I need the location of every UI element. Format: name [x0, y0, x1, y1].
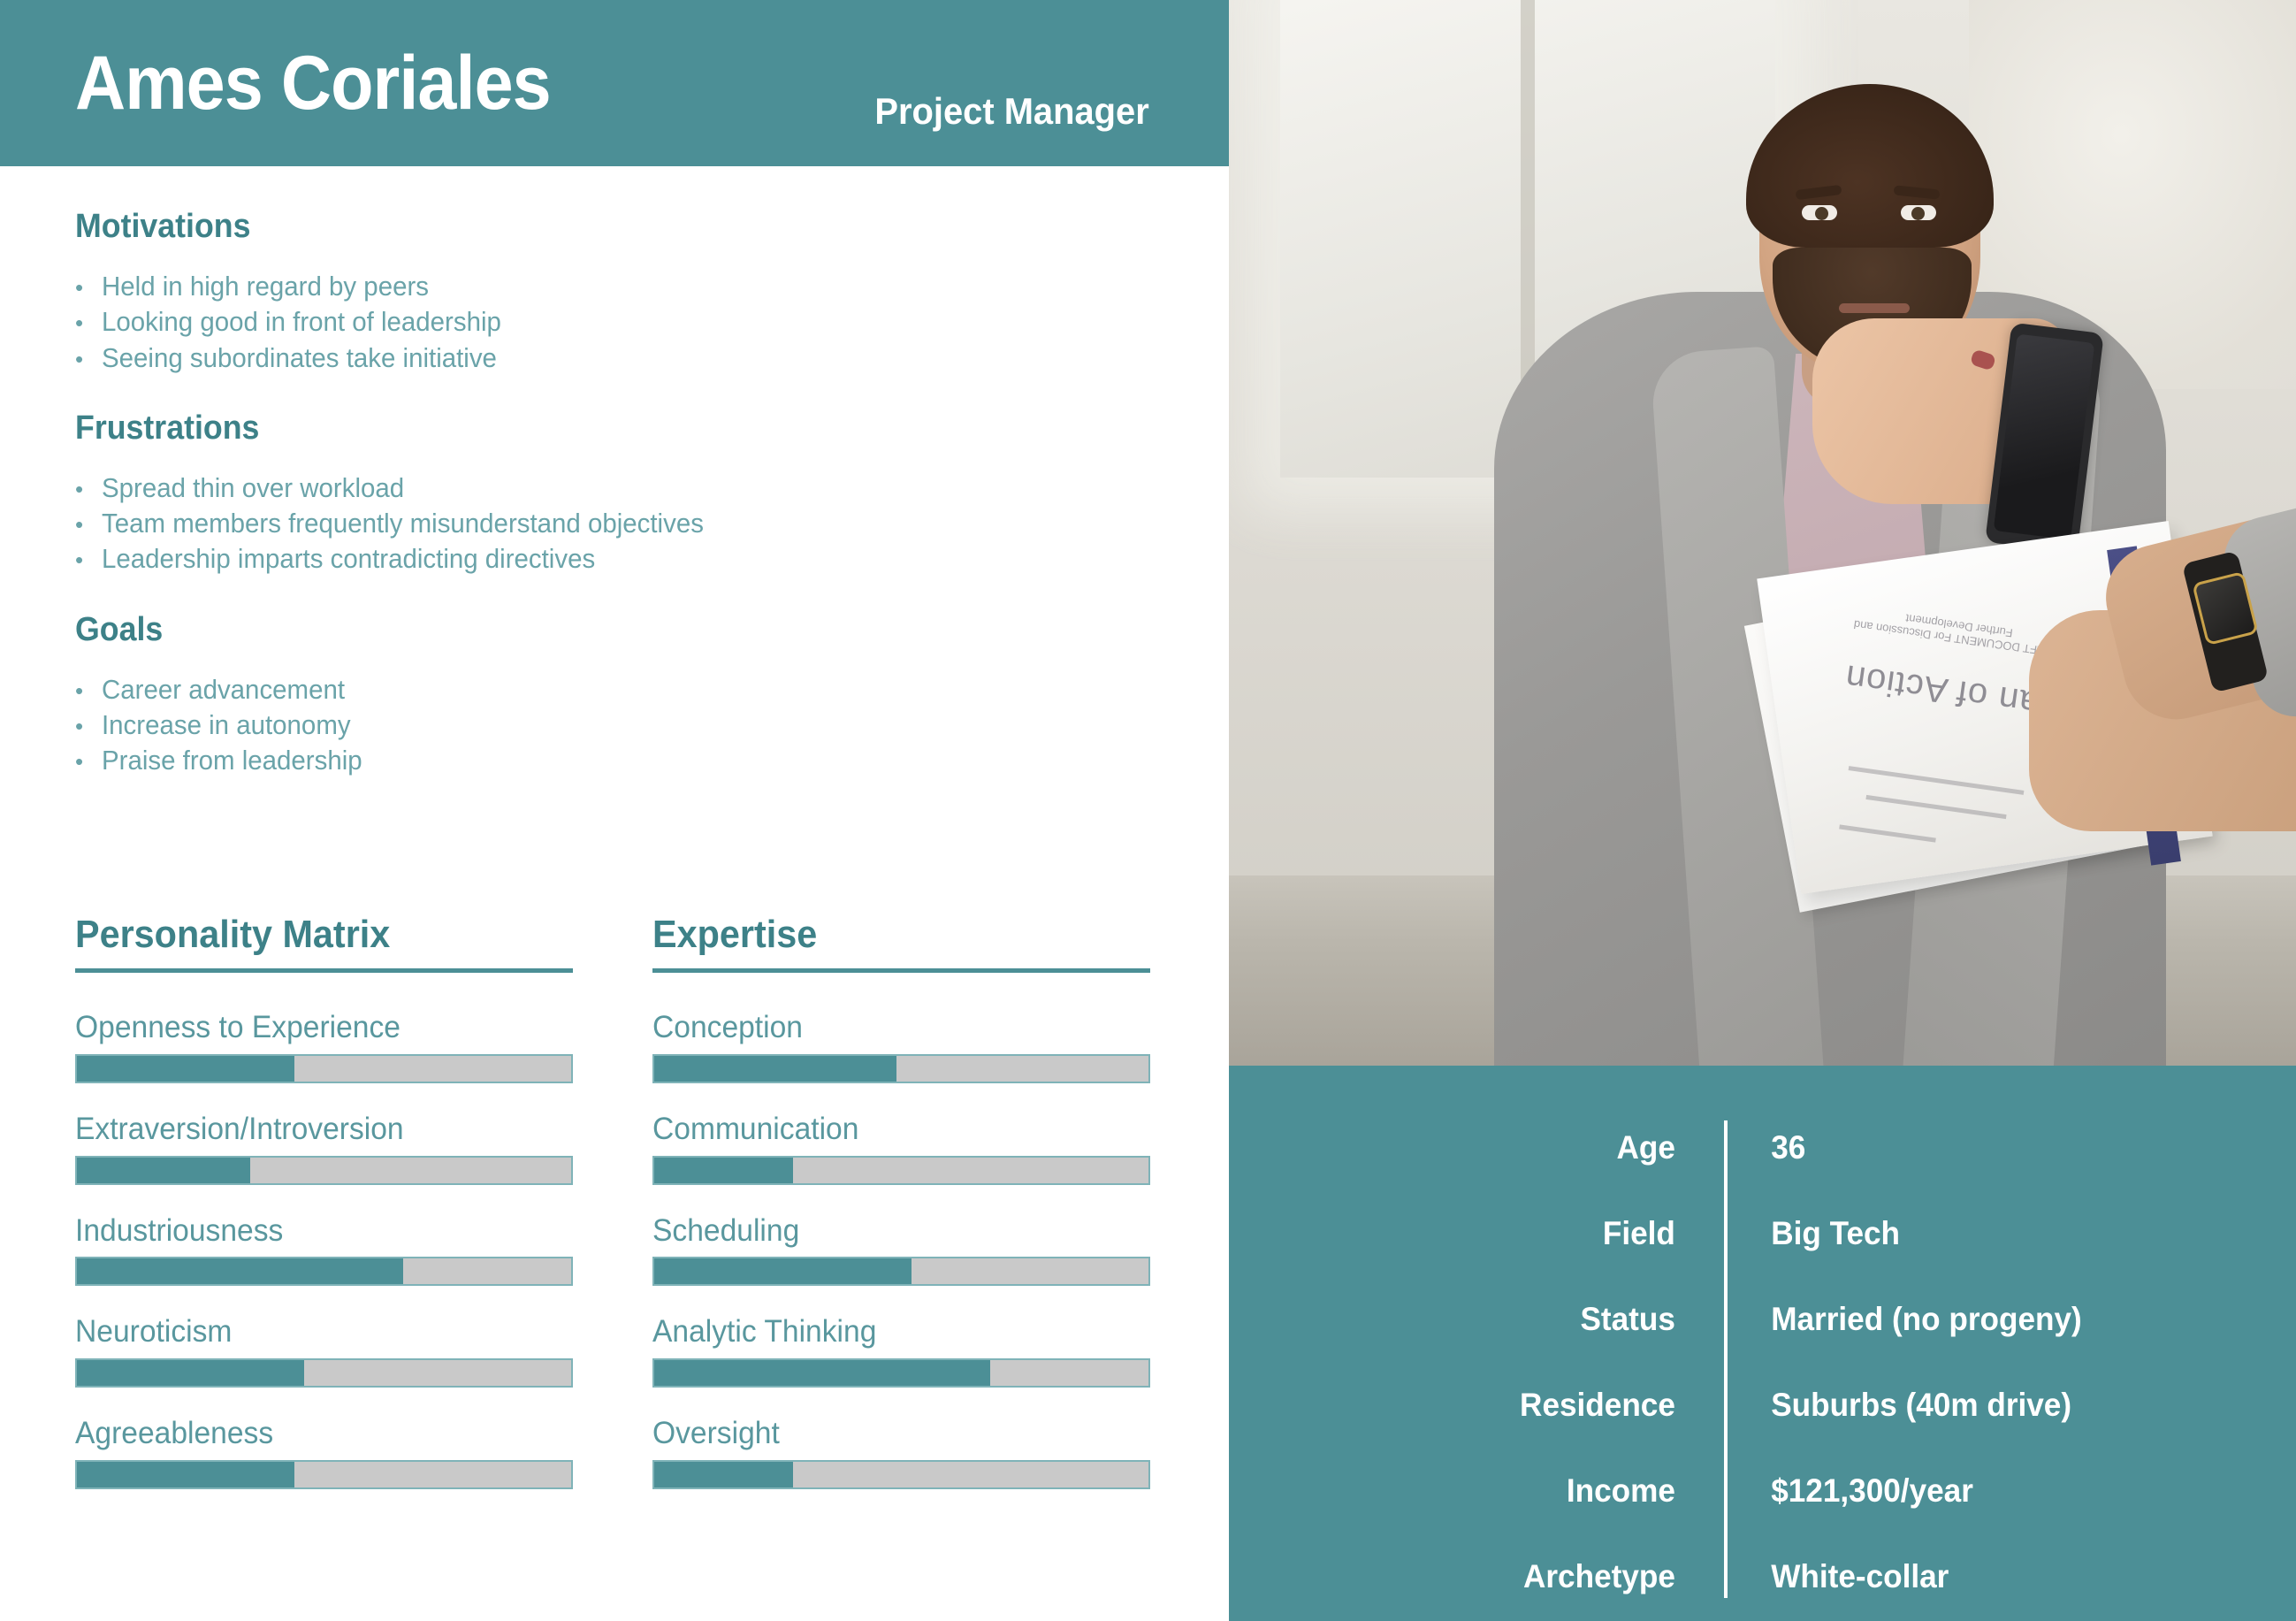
meter-row: Neuroticism: [75, 1316, 573, 1388]
meter-label: Industriousness: [75, 1215, 553, 1248]
meter-fill: [654, 1360, 990, 1386]
meter-row: Communication: [652, 1113, 1150, 1185]
expertise-chart: Expertise Conception Communication: [652, 915, 1150, 1519]
list-item-label: Increase in autonomy: [102, 707, 351, 743]
list-item: • Spread thin over workload: [75, 470, 1048, 506]
meter-label: Conception: [652, 1012, 1130, 1044]
meter-fill: [654, 1462, 793, 1487]
meter-label: Agreeableness: [75, 1418, 553, 1450]
meter-track: [75, 1054, 573, 1083]
meter-fill: [654, 1258, 912, 1284]
right-column: DRAFT DOCUMENT For Discussion and Furthe…: [1229, 0, 2296, 1621]
section-title: Goals: [75, 611, 989, 649]
list-item: • Career advancement: [75, 672, 1048, 707]
table-row-value: 36: [1724, 1129, 2268, 1166]
meter-fill: [77, 1258, 403, 1284]
table-row-label: Income: [1254, 1472, 1724, 1510]
section-frustrations: Frustrations • Spread thin over workload…: [75, 409, 1048, 577]
list-item-label: Held in high regard by peers: [102, 269, 429, 304]
meter-label: Oversight: [652, 1418, 1130, 1450]
table-row-value: $121,300/year: [1724, 1472, 2268, 1510]
list-item: • Seeing subordinates take initiative: [75, 340, 1048, 376]
header-band: Ames Coriales Project Manager: [0, 0, 1229, 166]
table-row: Age 36: [1229, 1105, 2296, 1190]
bullet-icon: •: [75, 747, 102, 777]
meter-row: Extraversion/Introversion: [75, 1113, 573, 1185]
bullet-icon: •: [75, 309, 102, 339]
list-item: • Held in high regard by peers: [75, 269, 1048, 304]
list-item: • Looking good in front of leadership: [75, 304, 1048, 340]
meter-label: Scheduling: [652, 1215, 1130, 1248]
list-item: • Team members frequently misunderstand …: [75, 506, 1048, 541]
meter-list: Conception Communication Scheduling: [652, 1012, 1150, 1489]
photo-pupil-left: [1815, 207, 1828, 220]
table-row-label: Residence: [1254, 1387, 1724, 1424]
meters-wrapper: Personality Matrix Openness to Experienc…: [75, 915, 1163, 1519]
table-row-label: Status: [1254, 1301, 1724, 1338]
left-column: Ames Coriales Project Manager Motivation…: [0, 0, 1229, 1621]
meter-fill: [654, 1158, 793, 1183]
bullet-icon: •: [75, 677, 102, 707]
table-row-value: Suburbs (40m drive): [1724, 1387, 2268, 1424]
table-row-label: Archetype: [1254, 1558, 1724, 1595]
persona-card: Ames Coriales Project Manager Motivation…: [0, 0, 2296, 1621]
meter-track: [75, 1358, 573, 1388]
page-title: Ames Coriales: [75, 45, 551, 121]
meter-track: [652, 1358, 1150, 1388]
bullet-icon: •: [75, 345, 102, 375]
persona-photo: DRAFT DOCUMENT For Discussion and Furthe…: [1229, 0, 2296, 1066]
title-divider: [652, 968, 1150, 973]
meter-row: Openness to Experience: [75, 1012, 573, 1083]
bullet-icon: •: [75, 712, 102, 742]
meter-list: Openness to Experience Extraversion/Intr…: [75, 1012, 573, 1489]
table-row: Archetype White-collar: [1229, 1533, 2296, 1619]
meter-row: Industriousness: [75, 1215, 573, 1287]
meter-fill: [77, 1360, 304, 1386]
meter-row: Oversight: [652, 1418, 1150, 1489]
section-title: Motivations: [75, 208, 989, 246]
meter-track: [75, 1156, 573, 1185]
list-item-label: Leadership imparts contradicting directi…: [102, 541, 595, 577]
personality-matrix-chart: Personality Matrix Openness to Experienc…: [75, 915, 573, 1519]
meter-track: [652, 1257, 1150, 1286]
bullet-icon: •: [75, 475, 102, 505]
meter-label: Communication: [652, 1113, 1130, 1146]
meter-track: [652, 1156, 1150, 1185]
photo-pupil-right: [1911, 207, 1925, 220]
bullet-icon: •: [75, 510, 102, 540]
list-item-label: Career advancement: [102, 672, 345, 707]
chart-title: Personality Matrix: [75, 915, 543, 954]
meter-label: Openness to Experience: [75, 1012, 553, 1044]
meter-row: Analytic Thinking: [652, 1316, 1150, 1388]
table-row-value: Married (no progeny): [1724, 1301, 2268, 1338]
meter-fill: [77, 1056, 294, 1082]
meter-row: Scheduling: [652, 1215, 1150, 1287]
list-item-label: Team members frequently misunderstand ob…: [102, 506, 704, 541]
persona-role: Project Manager: [875, 90, 1149, 133]
table-row: Status Married (no progeny): [1229, 1276, 2296, 1362]
list-item: • Leadership imparts contradicting direc…: [75, 541, 1048, 577]
table-row: Field Big Tech: [1229, 1190, 2296, 1276]
meter-label: Extraversion/Introversion: [75, 1113, 553, 1146]
meter-fill: [77, 1158, 250, 1183]
list-item-label: Spread thin over workload: [102, 470, 404, 506]
table-row: Residence Suburbs (40m drive): [1229, 1362, 2296, 1448]
table-row-label: Field: [1254, 1215, 1724, 1252]
meter-row: Agreeableness: [75, 1418, 573, 1489]
meter-label: Neuroticism: [75, 1316, 553, 1349]
meter-fill: [654, 1056, 896, 1082]
bullet-icon: •: [75, 273, 102, 303]
meter-track: [652, 1460, 1150, 1489]
meter-fill: [77, 1462, 294, 1487]
table-row-label: Age: [1254, 1129, 1724, 1166]
table-row-value: White-collar: [1724, 1558, 2268, 1595]
section-title: Frustrations: [75, 409, 989, 447]
meter-label: Analytic Thinking: [652, 1316, 1130, 1349]
list-item-label: Looking good in front of leadership: [102, 304, 501, 340]
table-row-value: Big Tech: [1724, 1215, 2268, 1252]
list-item-label: Seeing subordinates take initiative: [102, 340, 497, 376]
section-motivations: Motivations • Held in high regard by pee…: [75, 208, 1048, 376]
chart-title: Expertise: [652, 915, 1120, 954]
table-divider: [1724, 1120, 1728, 1598]
photo-mouth: [1839, 303, 1910, 313]
list-item: • Praise from leadership: [75, 743, 1048, 778]
list-item: • Increase in autonomy: [75, 707, 1048, 743]
meter-track: [652, 1054, 1150, 1083]
title-divider: [75, 968, 573, 973]
list-item-label: Praise from leadership: [102, 743, 362, 778]
meter-track: [75, 1460, 573, 1489]
text-sections: Motivations • Held in high regard by pee…: [75, 208, 1048, 813]
meter-row: Conception: [652, 1012, 1150, 1083]
info-table: Age 36 Field Big Tech Status Married (no…: [1229, 1066, 2296, 1621]
meter-track: [75, 1257, 573, 1286]
bullet-icon: •: [75, 546, 102, 576]
section-goals: Goals • Career advancement • Increase in…: [75, 611, 1048, 779]
table-row: Income $121,300/year: [1229, 1448, 2296, 1533]
